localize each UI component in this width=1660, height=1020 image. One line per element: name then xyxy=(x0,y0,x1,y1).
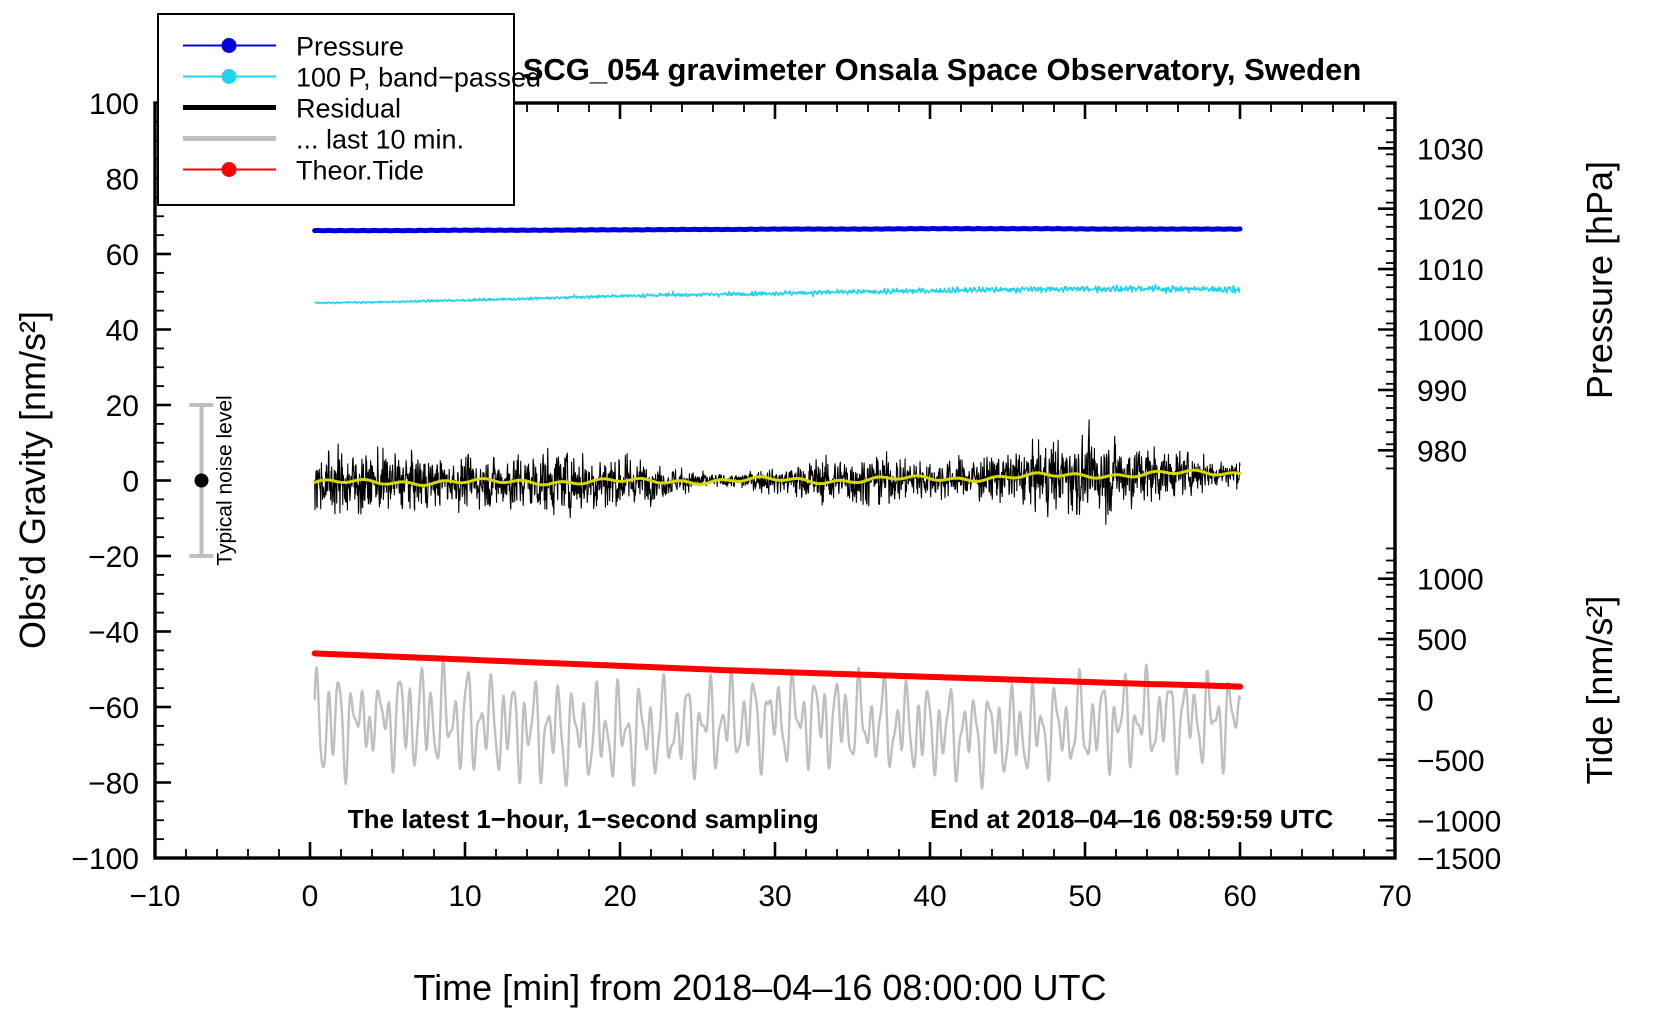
axis-tick-label: 1000 xyxy=(1417,564,1484,597)
axis-tick-label: 1010 xyxy=(1417,254,1484,287)
axis-tick-label: 60 xyxy=(106,239,139,272)
axis-tick-label: 10 xyxy=(448,880,481,913)
axis-tick-label: −100 xyxy=(71,843,139,876)
axis-tick-label: 50 xyxy=(1068,880,1101,913)
axis-tick-label: 1030 xyxy=(1417,133,1484,166)
gravimeter-time-series-chart: −10010203040506070100806040200−20−40−60−… xyxy=(0,0,1660,1020)
legend-marker-dot xyxy=(222,69,237,84)
axis-tick-label: 0 xyxy=(302,880,319,913)
axis-tick-label: 0 xyxy=(122,466,139,499)
chart-title: SCG_054 gravimeter Onsala Space Observat… xyxy=(523,52,1362,87)
axis-tick-label: −1500 xyxy=(1417,843,1501,876)
axis-tick-label: 1000 xyxy=(1417,315,1484,348)
axis-tick-label: 70 xyxy=(1378,880,1411,913)
axis-tick-label: 500 xyxy=(1417,624,1467,657)
axis-tick-label: 20 xyxy=(106,390,139,423)
axis-tick-label: −20 xyxy=(88,541,139,574)
legend-marker-dot xyxy=(222,162,237,177)
legend-item-label: Pressure xyxy=(296,32,404,62)
y-axis-title-left: Obs’d Gravity [nm/s²] xyxy=(12,311,53,649)
axis-tick-label: 100 xyxy=(89,88,139,121)
x-axis-title: Time [min] from 2018‒04‒16 08:00:00 UTC xyxy=(413,967,1106,1008)
axis-tick-label: 40 xyxy=(106,315,139,348)
legend-item-label: 100 P, band−passed xyxy=(296,63,541,93)
gravimeter-chart-page: −10010203040506070100806040200−20−40−60−… xyxy=(0,0,1660,1020)
axis-tick-label: 1020 xyxy=(1417,194,1484,227)
legend-item-label: Theor.Tide xyxy=(296,156,424,186)
axis-tick-label: −10 xyxy=(130,880,181,913)
sampling-note: The latest 1−hour, 1−second sampling xyxy=(348,804,819,834)
y-axis-title-right-tide: Tide [nm/s²] xyxy=(1579,596,1620,785)
legend-marker-dot xyxy=(222,38,237,53)
axis-tick-label: 990 xyxy=(1417,375,1467,408)
chart-legend: Pressure100 P, band−passedResidual... la… xyxy=(158,14,541,205)
axis-tick-label: 40 xyxy=(913,880,946,913)
axis-tick-label: −40 xyxy=(88,617,139,650)
typical-noise-level-label: Typical noise level xyxy=(214,395,237,565)
axis-tick-label: 980 xyxy=(1417,435,1467,468)
axis-tick-label: 80 xyxy=(106,164,139,197)
axis-tick-label: 0 xyxy=(1417,684,1434,717)
axis-tick-label: −500 xyxy=(1417,745,1485,778)
axis-tick-label: 60 xyxy=(1223,880,1256,913)
legend-item-label: ... last 10 min. xyxy=(296,125,464,155)
legend-item-label: Residual xyxy=(296,94,401,124)
axis-tick-label: −80 xyxy=(88,768,139,801)
axis-tick-label: −60 xyxy=(88,692,139,725)
end-time-note: End at 2018‒04‒16 08:59:59 UTC xyxy=(930,804,1333,834)
y-axis-title-right-pressure: Pressure [hPa] xyxy=(1579,161,1620,399)
axis-tick-label: 20 xyxy=(603,880,636,913)
axis-tick-label: −1000 xyxy=(1417,805,1501,838)
axis-tick-label: 30 xyxy=(758,880,791,913)
